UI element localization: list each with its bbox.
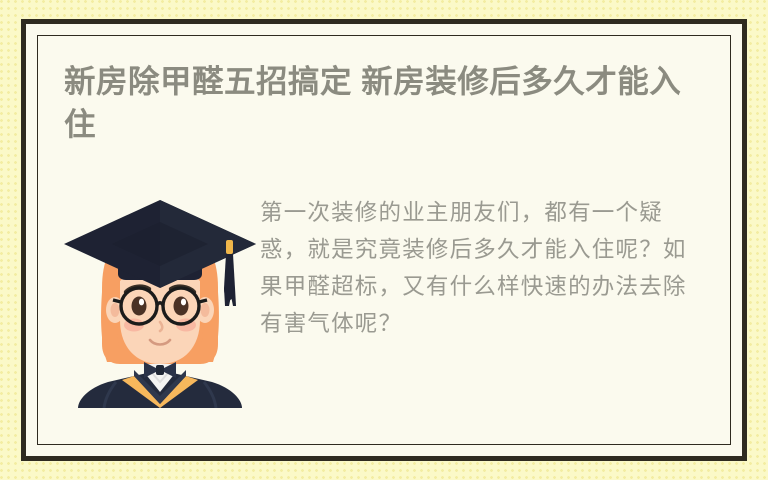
article-card-body: 新房除甲醛五招搞定 新房装修后多久才能入住 bbox=[26, 24, 742, 456]
article-card-frame: 新房除甲醛五招搞定 新房装修后多久才能入住 bbox=[21, 19, 747, 461]
page-title: 新房除甲醛五招搞定 新房装修后多久才能入住 bbox=[64, 60, 704, 146]
article-body-text: 第一次装修的业主朋友们，都有一个疑惑，就是究竟装修后多久才能入住呢？如果甲醛超标… bbox=[260, 194, 704, 342]
graduate-student-avatar bbox=[60, 192, 260, 408]
page-background: 新房除甲醛五招搞定 新房装修后多久才能入住 bbox=[0, 0, 768, 480]
